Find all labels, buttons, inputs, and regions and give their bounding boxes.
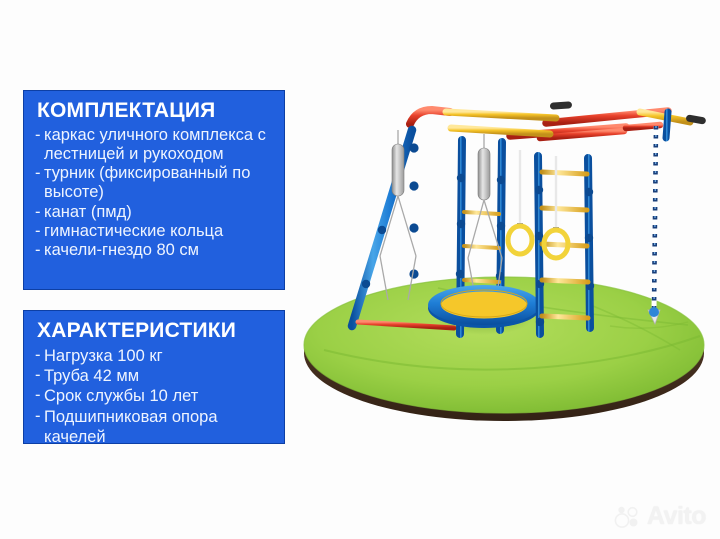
panel-list-komplektacia: - каркас уличного комплекса с лестницей … bbox=[35, 126, 274, 261]
list-item: - турник (фиксированный по высоте) bbox=[35, 164, 274, 203]
product-image bbox=[288, 78, 720, 468]
ladder-rung bbox=[542, 280, 588, 282]
list-item: - Нагрузка 100 кг bbox=[35, 346, 274, 366]
bullet-dash: - bbox=[35, 241, 44, 260]
list-item-label: турник (фиксированный по высоте) bbox=[44, 164, 274, 203]
bullet-dash: - bbox=[35, 222, 44, 241]
list-item-label: Нагрузка 100 кг bbox=[44, 346, 274, 366]
bullet-dash: - bbox=[35, 126, 44, 145]
ladder-rung bbox=[542, 244, 587, 246]
list-item-label: Срок службы 10 лет bbox=[44, 386, 274, 406]
bullet-dash: - bbox=[35, 203, 44, 222]
gym-ring bbox=[508, 226, 532, 254]
climbing-rope bbox=[648, 126, 660, 324]
list-item: - Срок службы 10 лет bbox=[35, 386, 274, 406]
page-root: КОМПЛЕКТАЦИЯ - каркас уличного комплекса… bbox=[0, 0, 720, 539]
list-item-label: качели-гнездо 80 см bbox=[44, 241, 274, 260]
bullet-dash: - bbox=[35, 366, 44, 385]
list-item: - канат (пмд) bbox=[35, 203, 274, 222]
bullet-dash: - bbox=[35, 346, 44, 365]
list-item-label: Подшипниковая опора качелей bbox=[44, 407, 274, 448]
panel-list-harakteristiki: - Нагрузка 100 кг - Труба 42 мм - Срок с… bbox=[35, 346, 274, 448]
list-item-label: Труба 42 мм bbox=[44, 366, 274, 386]
ladder-rung bbox=[542, 316, 588, 318]
list-item-label: гимнастические кольца bbox=[44, 222, 274, 241]
list-item: - Подшипниковая опора качелей bbox=[35, 407, 274, 448]
right-post bbox=[666, 112, 668, 138]
play-complex-illustration bbox=[288, 78, 720, 468]
list-item-label: канат (пмд) bbox=[44, 203, 274, 222]
list-item-label: каркас уличного комплекса с лестницей и … bbox=[44, 126, 274, 165]
list-item: - Труба 42 мм bbox=[35, 366, 274, 386]
bullet-dash: - bbox=[35, 407, 44, 426]
list-item: - качели-гнездо 80 см bbox=[35, 241, 274, 260]
panel-title-komplektacia: КОМПЛЕКТАЦИЯ bbox=[37, 99, 274, 123]
avito-dots-logo bbox=[614, 506, 642, 528]
spring-hanger bbox=[380, 130, 502, 302]
bullet-dash: - bbox=[35, 164, 44, 183]
nest-swing bbox=[428, 285, 540, 328]
list-item: - гимнастические кольца bbox=[35, 222, 274, 241]
avito-watermark-text: Avito bbox=[647, 504, 706, 529]
avito-watermark: Avito bbox=[614, 504, 706, 529]
info-panel-komplektacia: КОМПЛЕКТАЦИЯ - каркас уличного комплекса… bbox=[23, 90, 285, 290]
rope-anchor bbox=[649, 307, 659, 317]
info-panel-harakteristiki: ХАРАКТЕРИСТИКИ - Нагрузка 100 кг - Труба… bbox=[23, 310, 285, 444]
ladder-rung bbox=[542, 172, 587, 174]
ladder-rung bbox=[542, 208, 587, 210]
panel-title-harakteristiki: ХАРАКТЕРИСТИКИ bbox=[37, 319, 274, 343]
nest-inner-mesh bbox=[441, 292, 527, 319]
list-item: - каркас уличного комплекса с лестницей … bbox=[35, 126, 274, 165]
bullet-dash: - bbox=[35, 386, 44, 405]
